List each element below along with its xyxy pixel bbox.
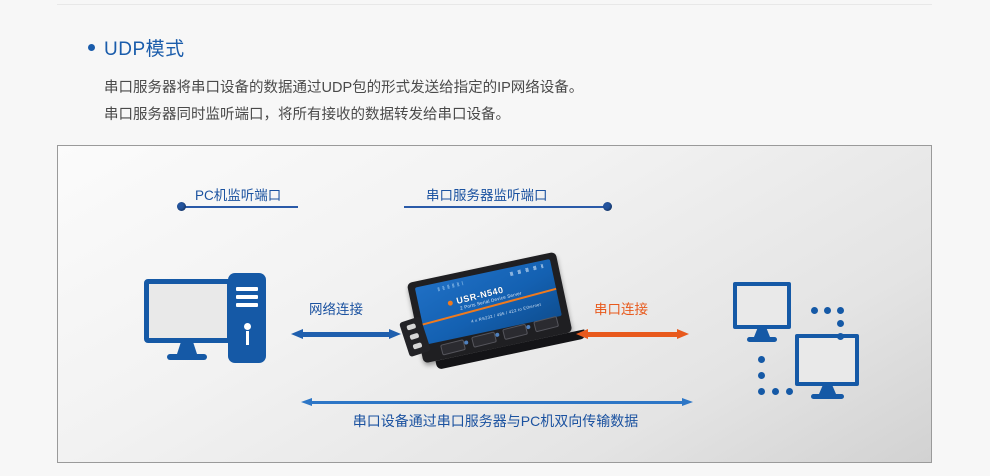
pc-computer-icon [144, 279, 270, 372]
pc-tower [228, 273, 266, 363]
monitor-neck [819, 386, 836, 394]
top-divider [57, 4, 932, 5]
arrow-head-right [682, 398, 693, 406]
network-connection-arrow-icon [291, 329, 401, 339]
page-title: UDP模式 [104, 34, 185, 61]
description-block: 串口服务器将串口设备的数据通过UDP包的形式发送给指定的IP网络设备。 串口服务… [104, 78, 824, 132]
monitor-icon [795, 334, 869, 406]
monitor-neck [754, 329, 770, 337]
connector-dot-icon [837, 307, 844, 314]
monitor-icon [733, 282, 799, 348]
diagram-caption: 串口设备通过串口服务器与PC机双向传输数据 [58, 411, 932, 431]
pc-monitor-screen [144, 279, 232, 343]
bracket-hole [406, 323, 416, 331]
connector-dot-icon [837, 320, 844, 327]
description-line-1: 串口服务器将串口设备的数据通过UDP包的形式发送给指定的IP网络设备。 [104, 78, 824, 99]
device-db9-port [533, 316, 559, 332]
connector-dot-icon [758, 372, 765, 379]
connector-dot-icon [772, 388, 779, 395]
device-port-screw-icon [464, 340, 469, 345]
connector-dot-icon [758, 388, 765, 395]
serial-connection-arrow-icon [576, 329, 689, 339]
device-chassis: USR-N540 2 Ports Serial Device Server 4 … [407, 252, 573, 364]
server-listen-port-label: 串口服务器监听端口 [426, 184, 548, 204]
bracket-hole [409, 333, 419, 341]
pc-tower-slot [236, 303, 258, 307]
pc-listen-port-endpoint-dot-icon [177, 202, 186, 211]
bracket-hole [412, 342, 422, 350]
device-db9-port [502, 324, 528, 340]
arrow-shaft [311, 401, 683, 403]
server-listen-port-line [404, 206, 607, 208]
device-db9-port [440, 339, 466, 355]
description-line-2: 串口服务器同时监听端口，将所有接收的数据转发给串口设备。 [104, 105, 824, 126]
pc-tower-slot [236, 295, 258, 299]
connector-dot-icon [837, 333, 844, 340]
bidirectional-data-arrow-icon [301, 398, 693, 407]
monitor-base [811, 394, 844, 399]
arrow-shaft [585, 332, 680, 337]
diagram-panel: PC机监听端口 串口服务器监听端口 网络连接 [57, 145, 932, 463]
pc-listen-port-line [183, 206, 298, 208]
pc-tower-stem [246, 331, 249, 345]
section-heading: UDP模式 [88, 34, 185, 61]
device-port-screw-icon [495, 332, 500, 337]
arrow-head-right [389, 329, 401, 339]
network-connection-label: 网络连接 [309, 298, 363, 318]
server-listen-port-endpoint-dot-icon [603, 202, 612, 211]
serial-device-server: USR-N540 2 Ports Serial Device Server 4 … [393, 241, 592, 388]
connector-dot-icon [758, 356, 765, 363]
serial-connection-label: 串口连接 [594, 298, 648, 318]
monitor-base [747, 337, 777, 342]
monitor-screen [733, 282, 791, 329]
connector-dot-icon [786, 388, 793, 395]
bullet-dot-icon [88, 44, 95, 51]
pc-power-button-icon [244, 323, 251, 330]
device-certification-marks-icon [510, 264, 544, 276]
pc-monitor-base [167, 354, 207, 360]
connector-dot-icon [811, 307, 818, 314]
pc-monitor-neck [177, 343, 197, 354]
device-db9-port [471, 331, 497, 347]
arrow-head-right [677, 329, 689, 339]
device-port-screw-icon [526, 325, 531, 330]
arrow-shaft [300, 332, 392, 337]
connector-dot-icon [824, 307, 831, 314]
device-logo-icon [447, 300, 453, 306]
device-led-strip-icon [437, 281, 463, 291]
pc-listen-port-label: PC机监听端口 [195, 184, 281, 204]
pc-tower-slot [236, 287, 258, 291]
monitor-screen [795, 334, 859, 386]
